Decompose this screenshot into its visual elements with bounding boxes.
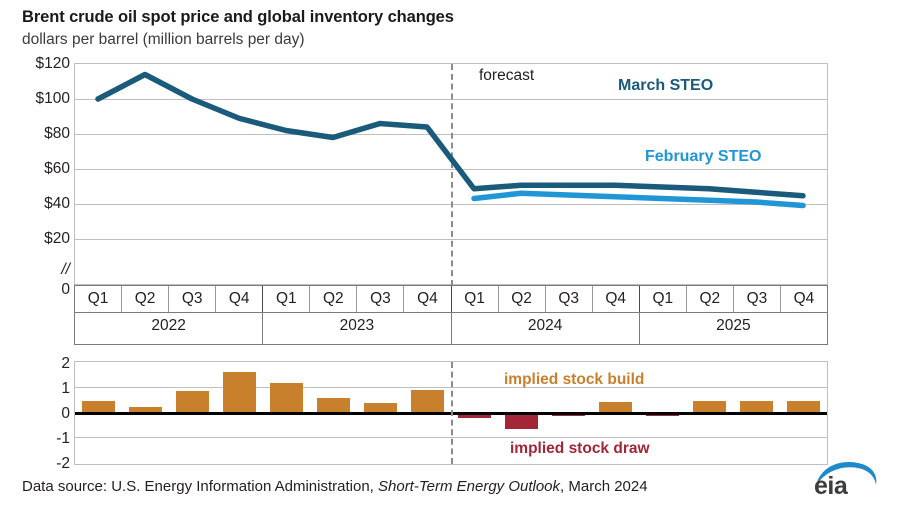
chart-subtitle: dollars per barrel (million barrels per …: [22, 31, 305, 49]
price-tick-0: 0: [61, 281, 70, 299]
quarter-cell: Q1: [452, 286, 499, 312]
price-tick-20: $20: [44, 230, 70, 248]
year-cell: 2025: [640, 313, 827, 344]
quarter-cell: Q2: [687, 286, 734, 312]
quarter-cell: Q1: [75, 286, 122, 312]
implied-stock-build-label: implied stock build: [504, 371, 644, 389]
inventory-tick-n2: -2: [56, 455, 70, 473]
bar-2023-q1: [270, 383, 304, 412]
march-steo-label: March STEO: [618, 77, 713, 95]
year-cell: 2022: [75, 313, 263, 344]
bar-2025-q4: [787, 401, 821, 412]
bar-2023-q2: [317, 398, 351, 412]
inventory-tick-1: 1: [61, 380, 70, 398]
quarter-cell: Q3: [357, 286, 404, 312]
price-plot-area: March STEO February STEO forecast: [74, 63, 828, 285]
price-tick-40: $40: [44, 195, 70, 213]
price-tick-100: $100: [36, 90, 70, 108]
footer-publication: Short-Term Energy Outlook: [378, 478, 560, 495]
bar-2025-q3: [740, 401, 774, 412]
price-tick-80: $80: [44, 125, 70, 143]
quarter-cell: Q2: [310, 286, 357, 312]
price-tick-60: $60: [44, 160, 70, 178]
bar-2024-q1: [458, 414, 492, 418]
quarter-cell: Q4: [404, 286, 451, 312]
bar-2024-q4: [599, 402, 633, 412]
quarter-cell: Q2: [499, 286, 546, 312]
data-source-footer: Data source: U.S. Energy Information Adm…: [22, 478, 648, 495]
chart-figure: Brent crude oil spot price and global in…: [0, 0, 899, 505]
bar-2023-q4: [411, 390, 445, 413]
quarter-cell: Q1: [640, 286, 687, 312]
quarter-cell: Q2: [122, 286, 169, 312]
bar-2025-q2: [693, 401, 727, 412]
february-steo-line: [474, 193, 803, 205]
february-steo-label: February STEO: [645, 148, 761, 166]
inventory-axis-labels: 2 1 0 -1 -2: [0, 355, 70, 475]
price-lines-svg: [75, 64, 827, 284]
inventory-tick-2: 2: [61, 355, 70, 373]
bar-2022-q3: [176, 391, 210, 412]
year-axis: 2022 2023 2024 2025: [74, 313, 828, 345]
price-axis-labels: $120 $100 $80 $60 $40 $20 // 0: [0, 63, 70, 308]
quarter-cell: Q4: [781, 286, 827, 312]
footer-prefix: Data source: U.S. Energy Information Adm…: [22, 478, 378, 495]
quarter-axis: Q1 Q2 Q3 Q4 Q1 Q2 Q3 Q4 Q1 Q2 Q3 Q4 Q1 Q…: [74, 285, 828, 313]
year-cell: 2024: [452, 313, 640, 344]
quarter-cell: Q3: [546, 286, 593, 312]
bar-2022-q4: [223, 372, 257, 412]
bar-2022-q1: [82, 401, 116, 412]
eia-logo: eia: [812, 458, 884, 500]
eia-logo-text: eia: [814, 472, 847, 501]
chart-title: Brent crude oil spot price and global in…: [22, 8, 454, 27]
price-tick-120: $120: [36, 55, 70, 73]
quarter-cell: Q4: [593, 286, 640, 312]
implied-stock-draw-label: implied stock draw: [510, 440, 650, 458]
forecast-label: forecast: [479, 67, 534, 85]
quarter-cell: Q3: [734, 286, 781, 312]
quarter-cell: Q1: [263, 286, 310, 312]
inventory-plot-area: implied stock build implied stock draw: [74, 361, 828, 465]
inventory-tick-0: 0: [61, 405, 70, 423]
bar-2023-q3: [364, 403, 398, 412]
axis-break-symbol: //: [0, 261, 70, 279]
quarter-cell: Q4: [216, 286, 263, 312]
year-cell: 2023: [263, 313, 451, 344]
forecast-divider-bottom: [451, 362, 453, 464]
inventory-tick-n1: -1: [56, 430, 70, 448]
bar-2024-q2: [505, 414, 539, 429]
quarter-cell: Q3: [169, 286, 216, 312]
footer-suffix: , March 2024: [560, 478, 648, 495]
